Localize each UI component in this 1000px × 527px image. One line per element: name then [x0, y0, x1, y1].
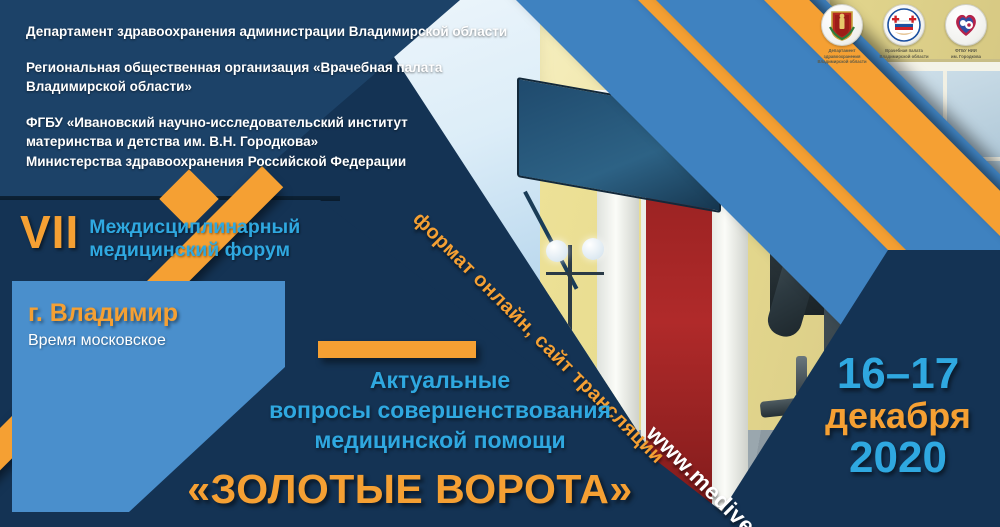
- organizer-3-line-2: материнства и детства им. В.Н. Городкова…: [26, 134, 318, 149]
- forum-name-line-2: медицинский форум: [89, 239, 300, 262]
- orange-rule: [318, 341, 476, 358]
- logo-caption-2: Врачебная палата Владимирской области: [878, 48, 930, 59]
- event-date-year: 2020: [810, 435, 986, 481]
- forum-number: VII: [20, 211, 79, 255]
- organizer-3-line-1: ФГБУ «Ивановский научно-исследовательски…: [26, 115, 408, 130]
- logo-gorodkov-institute: ФГБУ НИИ им. Городкова: [940, 4, 992, 65]
- city-timezone: Время московское: [28, 332, 166, 350]
- organizer-1-line-1: Департамент здравоохранения администраци…: [26, 24, 507, 39]
- subject-line-1: Актуальные: [180, 366, 700, 396]
- event-date-month: декабря: [810, 397, 986, 435]
- forum-title: VII Междисциплинарный медицинский форум: [20, 211, 300, 262]
- vladimir-coat-of-arms-icon: [821, 4, 863, 46]
- organizer-1: Департамент здравоохранения администраци…: [26, 22, 546, 42]
- organizer-3-line-3: Министерства здравоохранения Российской …: [26, 154, 406, 169]
- event-poster: АПТЕКА: [0, 0, 1000, 527]
- medical-chamber-icon: [883, 4, 925, 46]
- event-date-days: 16–17: [810, 352, 986, 397]
- city-name: г. Владимир: [28, 299, 178, 328]
- logo-caption-3: ФГБУ НИИ им. Городкова: [940, 48, 992, 59]
- organizer-2-line-1: Региональная общественная организация «В…: [26, 60, 442, 75]
- event-date: 16–17 декабря 2020: [810, 352, 986, 481]
- forum-name-line-1: Междисциплинарный: [89, 216, 300, 239]
- organizers-block: Департамент здравоохранения администраци…: [26, 22, 546, 171]
- subject-block: Актуальные вопросы совершенствования мед…: [180, 366, 700, 456]
- forum-name: Междисциплинарный медицинский форум: [89, 211, 300, 262]
- gorodkov-institute-icon: [945, 4, 987, 46]
- logo-strip: Департамент здравоохранения Владимирской…: [816, 4, 992, 65]
- subject-line-3: медицинской помощи: [180, 426, 700, 456]
- organizer-3: ФГБУ «Ивановский научно-исследовательски…: [26, 113, 546, 172]
- logo-caption-1: Департамент здравоохранения Владимирской…: [816, 48, 868, 65]
- page-title: «ЗОЛОТЫЕ ВОРОТА»: [150, 466, 670, 513]
- subject-line-2: вопросы совершенствования: [180, 396, 700, 426]
- logo-medical-chamber: Врачебная палата Владимирской области: [878, 4, 930, 65]
- organizer-2: Региональная общественная организация «В…: [26, 58, 546, 97]
- logo-vladimir-region: Департамент здравоохранения Владимирской…: [816, 4, 868, 65]
- organizer-2-line-2: Владимирской области»: [26, 79, 192, 94]
